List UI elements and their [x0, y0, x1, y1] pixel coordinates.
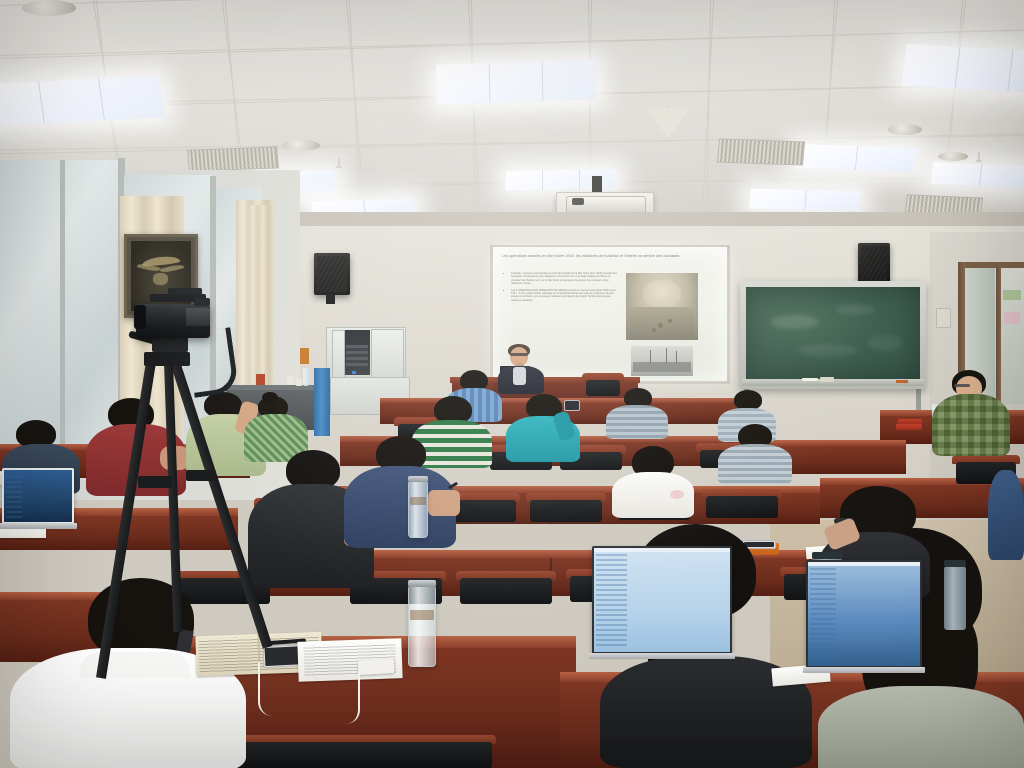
smoke-detector-icon [888, 124, 922, 135]
curtain-right [248, 205, 274, 385]
student-blue-polo-right [988, 470, 1024, 560]
smoke-detector-icon [22, 0, 76, 16]
ceiling-diffuser-icon [646, 108, 690, 138]
sprinkler-head-icon [336, 158, 342, 168]
counter-bottle [303, 368, 309, 386]
student-teal-shirt [506, 394, 580, 460]
book-red[interactable] [896, 424, 922, 430]
student-grey-stripe-2 [718, 424, 792, 478]
rear-counter-top [224, 385, 326, 390]
counter-cup [287, 376, 294, 385]
charging-cable [258, 662, 282, 716]
slide-body: Koltchak, nouveau commandant en chef de … [506, 272, 618, 305]
slide-bullet: Koltchak, nouveau commandant en chef de … [511, 272, 618, 286]
student-green-patterned [244, 392, 308, 458]
student-white-top-pony [612, 446, 694, 514]
framed-artwork [124, 234, 198, 318]
smartphone-raised [564, 400, 580, 411]
counter-cup [296, 378, 302, 386]
counter-orange-item [300, 348, 309, 364]
slide-bullet: Les 3 DREADNOUGHT IMPERATRITSA MARIIA en… [511, 289, 618, 303]
slide-title: Les opérations navales en Mer Noire 1916… [502, 254, 718, 259]
chalkboard [746, 287, 920, 379]
door-poster-green [1003, 290, 1021, 300]
ceiling-light-panel [436, 59, 597, 105]
water-bottle-tall[interactable] [408, 480, 428, 538]
charging-cable-2 [332, 672, 360, 724]
light-switch-plate[interactable] [936, 308, 951, 328]
chalkboard-eraser[interactable] [820, 377, 834, 382]
av-cabinet-door-open[interactable] [332, 330, 345, 378]
tray-marker[interactable] [896, 380, 908, 383]
laptop-center[interactable] [592, 546, 732, 654]
hvac-vent [717, 138, 805, 165]
sprinkler-head-icon [976, 152, 982, 162]
laptop-right[interactable] [806, 560, 922, 668]
door-poster-pink [1004, 312, 1020, 324]
ceiling-light-panel [795, 144, 918, 172]
speaker-bracket-left [326, 294, 335, 304]
wall-speaker-left [314, 253, 350, 295]
glass-water-bottle[interactable] [408, 585, 436, 667]
chair[interactable] [460, 578, 552, 604]
student-green-plaid [932, 370, 1010, 460]
ceiling-light-panel [749, 188, 860, 211]
chair-foreground[interactable] [232, 742, 492, 768]
smoke-detector-icon [282, 140, 320, 151]
book-red[interactable] [898, 419, 922, 424]
lecture-hall-photo: Les opérations navales en Mer Noire 1916… [0, 0, 1024, 768]
student-navy-tee [344, 436, 456, 546]
av-rack-gear [346, 345, 368, 367]
chair[interactable] [530, 500, 602, 522]
chalk-stick[interactable] [802, 378, 818, 381]
student-grey-stripe [606, 388, 668, 436]
student-maroon-tee [86, 398, 186, 494]
slide-portrait-image [626, 273, 698, 340]
ceiling-light-panel [931, 162, 1024, 188]
projector-lens [572, 198, 584, 205]
slide-ship-photo [631, 346, 693, 376]
power-bank[interactable] [358, 659, 395, 675]
laptop-white[interactable] [2, 468, 74, 524]
blue-pillar [314, 368, 330, 436]
hvac-vent [187, 146, 279, 171]
projector-mount [592, 176, 602, 192]
av-cabinet-door-closed[interactable] [371, 329, 404, 378]
ceiling-light-panel [901, 44, 1024, 94]
smoke-detector-icon [938, 152, 968, 161]
wall-soffit [255, 212, 1024, 226]
thermos-flask[interactable] [944, 566, 966, 630]
counter-red-item [256, 374, 265, 385]
av-status-led [352, 371, 356, 374]
chair[interactable] [706, 496, 778, 518]
